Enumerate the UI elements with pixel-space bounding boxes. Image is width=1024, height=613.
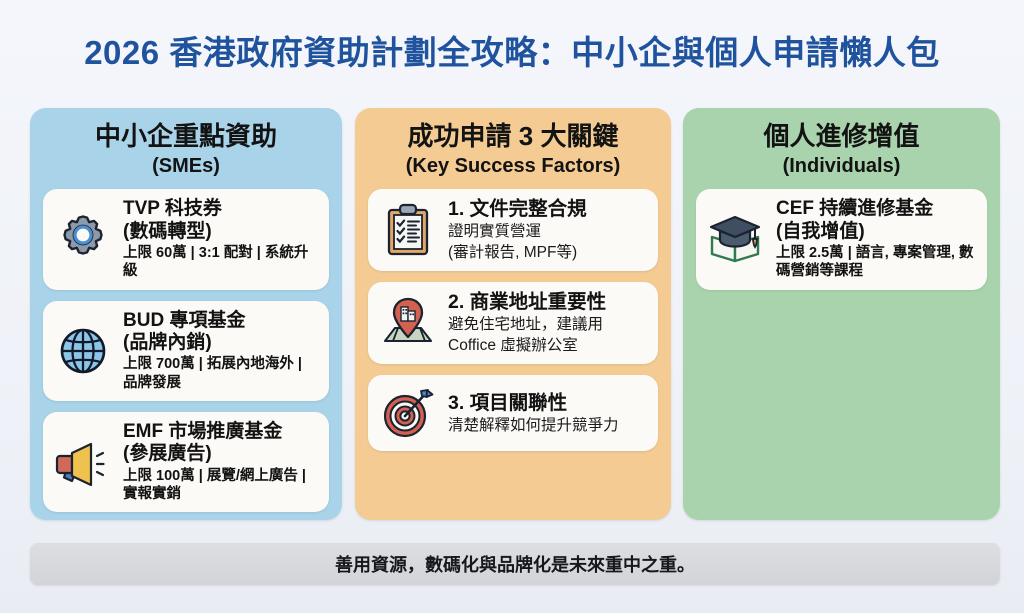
card-bud-subtitle: (品牌內銷)	[123, 332, 318, 354]
card-bud[interactable]: BUD 專項基金 (品牌內銷) 上限 700萬 | 拓展內地海外 | 品牌發展	[43, 301, 329, 401]
card-emf-text: EMF 市場推廣基金 (參展廣告) 上限 100萬 | 展覽/網上廣告 | 實報…	[123, 421, 318, 503]
column-individuals-cards: CEF 持續進修基金 (自我增值) 上限 2.5萬 | 語言, 專案管理, 數碼…	[683, 179, 1000, 289]
card-factor-address-sub1: 避免住宅地址，建議用	[448, 315, 647, 335]
column-smes-title-cn: 中小企重點資助	[30, 120, 342, 153]
megaphone-icon	[54, 433, 112, 491]
card-cef-text: CEF 持續進修基金 (自我增值) 上限 2.5萬 | 語言, 專案管理, 數碼…	[776, 198, 976, 280]
card-factor-relevance-sub1: 清楚解釋如何提升競爭力	[448, 416, 647, 436]
target-dart-icon	[379, 384, 437, 442]
card-cef[interactable]: CEF 持續進修基金 (自我增值) 上限 2.5萬 | 語言, 專案管理, 數碼…	[696, 189, 987, 289]
column-ksf-header: 成功申請 3 大關鍵 (Key Success Factors)	[355, 108, 671, 179]
column-individuals-title-en: (Individuals)	[683, 153, 1000, 179]
column-smes-header: 中小企重點資助 (SMEs)	[30, 108, 342, 179]
card-factor-relevance-title: 3. 項目關聯性	[448, 392, 647, 415]
card-factor-address[interactable]: 2. 商業地址重要性 避免住宅地址，建議用 Coffice 虛擬辦公室	[368, 282, 658, 364]
footer-text: 善用資源，數碼化與品牌化是未來重中之重。	[335, 551, 695, 577]
card-tvp-text: TVP 科技券 (數碼轉型) 上限 60萬 | 3:1 配對 | 系統升級	[123, 198, 318, 280]
card-factor-documents-sub1: 證明實質營運	[448, 222, 647, 242]
card-emf-detail: 上限 100萬 | 展覽/網上廣告 | 實報實銷	[123, 467, 318, 504]
clipboard-checklist-icon	[379, 201, 437, 259]
card-factor-documents-sub2: (審計報告, MPF等)	[448, 243, 647, 263]
card-factor-documents-text: 1. 文件完整合規 證明實質營運 (審計報告, MPF等)	[448, 198, 647, 262]
card-cef-detail: 上限 2.5萬 | 語言, 專案管理, 數碼營銷等課程	[776, 244, 976, 281]
column-key-success-factors: 成功申請 3 大關鍵 (Key Success Factors)	[355, 108, 671, 520]
globe-icon	[54, 322, 112, 380]
infographic-page: 2026 香港政府資助計劃全攻略：中小企與個人申請懶人包 中小企重點資助 (SM…	[0, 0, 1024, 613]
card-factor-address-text: 2. 商業地址重要性 避免住宅地址，建議用 Coffice 虛擬辦公室	[448, 291, 647, 355]
card-emf-title: EMF 市場推廣基金	[123, 421, 318, 443]
column-ksf-cards: 1. 文件完整合規 證明實質營運 (審計報告, MPF等)	[355, 179, 671, 451]
card-cef-subtitle: (自我增值)	[776, 221, 976, 243]
column-ksf-title-en: (Key Success Factors)	[355, 153, 671, 179]
card-tvp[interactable]: TVP 科技券 (數碼轉型) 上限 60萬 | 3:1 配對 | 系統升級	[43, 189, 329, 289]
card-factor-relevance[interactable]: 3. 項目關聯性 清楚解釋如何提升競爭力	[368, 375, 658, 451]
card-tvp-detail: 上限 60萬 | 3:1 配對 | 系統升級	[123, 244, 318, 281]
card-bud-detail: 上限 700萬 | 拓展內地海外 | 品牌發展	[123, 355, 318, 392]
column-ksf-title-cn: 成功申請 3 大關鍵	[355, 120, 671, 153]
card-emf[interactable]: EMF 市場推廣基金 (參展廣告) 上限 100萬 | 展覽/網上廣告 | 實報…	[43, 412, 329, 512]
card-bud-text: BUD 專項基金 (品牌內銷) 上限 700萬 | 拓展內地海外 | 品牌發展	[123, 310, 318, 392]
gear-icon	[54, 210, 112, 268]
graduation-book-icon	[707, 210, 765, 268]
card-factor-address-title: 2. 商業地址重要性	[448, 291, 647, 314]
footer-banner: 善用資源，數碼化與品牌化是未來重中之重。	[30, 543, 1000, 585]
card-factor-address-sub2: Coffice 虛擬辦公室	[448, 336, 647, 356]
page-title: 2026 香港政府資助計劃全攻略：中小企與個人申請懶人包	[0, 26, 1024, 74]
column-individuals-header: 個人進修增值 (Individuals)	[683, 108, 1000, 179]
card-factor-documents[interactable]: 1. 文件完整合規 證明實質營運 (審計報告, MPF等)	[368, 189, 658, 271]
card-tvp-subtitle: (數碼轉型)	[123, 221, 318, 243]
card-factor-documents-title: 1. 文件完整合規	[448, 198, 647, 221]
column-smes-title-en: (SMEs)	[30, 153, 342, 179]
column-individuals: 個人進修增值 (Individuals) CEF 持續進修基金	[683, 108, 1000, 520]
card-factor-relevance-text: 3. 項目關聯性 清楚解釋如何提升競爭力	[448, 392, 647, 436]
map-pin-building-icon	[379, 294, 437, 352]
card-bud-title: BUD 專項基金	[123, 310, 318, 332]
card-tvp-title: TVP 科技券	[123, 198, 318, 220]
column-smes: 中小企重點資助 (SMEs) TVP 科技券 (數碼轉型)	[30, 108, 342, 520]
card-cef-title: CEF 持續進修基金	[776, 198, 976, 220]
card-emf-subtitle: (參展廣告)	[123, 443, 318, 465]
column-smes-cards: TVP 科技券 (數碼轉型) 上限 60萬 | 3:1 配對 | 系統升級	[30, 179, 342, 512]
column-individuals-title-cn: 個人進修增值	[683, 120, 1000, 153]
